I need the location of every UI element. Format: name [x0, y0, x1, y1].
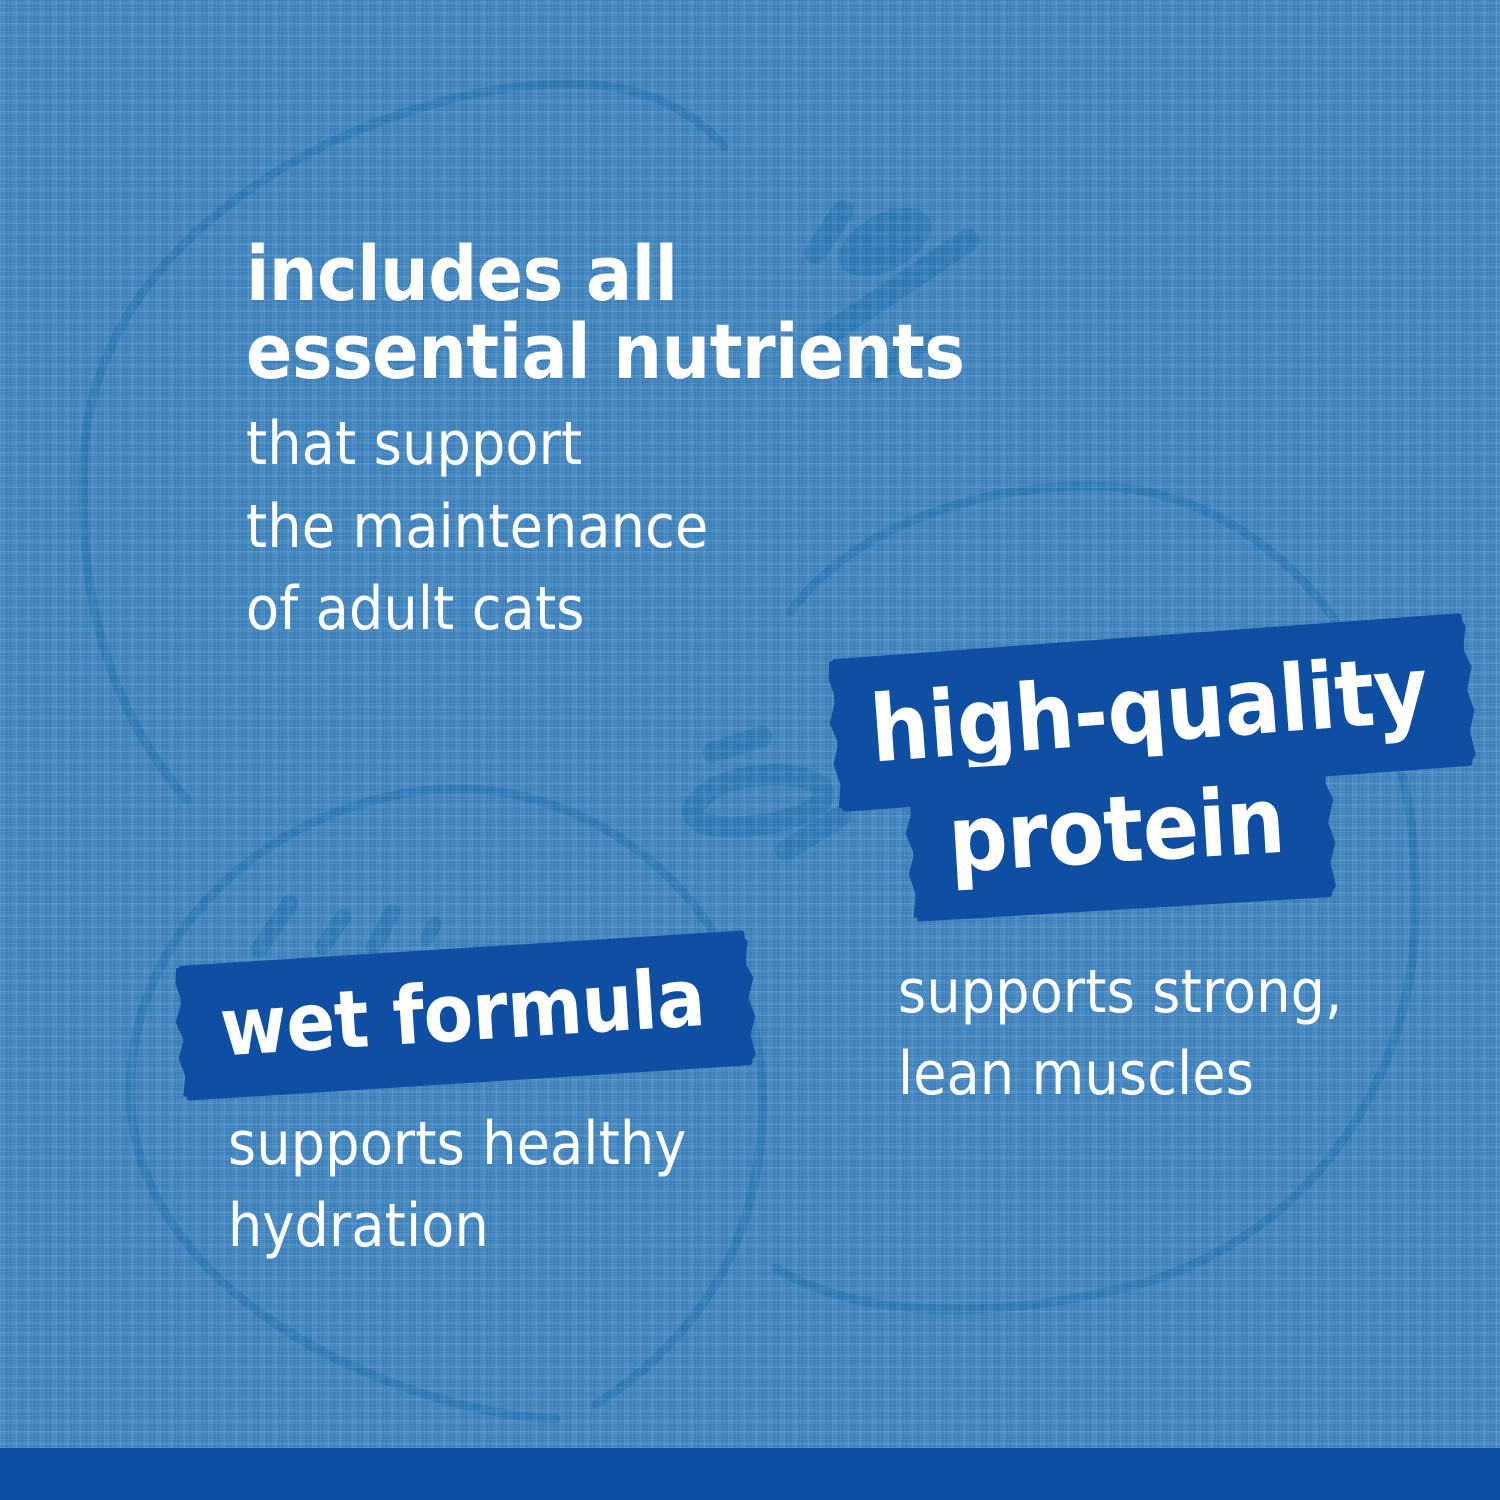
- wet-formula-badge-line1: wet formula: [178, 930, 752, 1100]
- protein-body-block: supports strong, lean muscles: [898, 958, 1343, 1109]
- infographic-canvas: includes all essential nutrients that su…: [0, 0, 1500, 1500]
- wet-formula-body-line2: hydration: [228, 1192, 687, 1260]
- center-sparks: [693, 723, 856, 865]
- wet-formula-body-block: supports healthy hydration: [228, 1110, 687, 1261]
- protein-body-line2: lean muscles: [898, 1040, 1343, 1108]
- wet-formula-badge: wet formula: [182, 948, 749, 1083]
- nutrients-headline-line1: includes all: [246, 238, 965, 310]
- protein-badge-line2: protein: [908, 746, 1333, 921]
- nutrients-headline-line2: essential nutrients: [246, 316, 965, 388]
- essential-nutrients-block: includes all essential nutrients that su…: [246, 238, 965, 644]
- bottom-accent-bar: [0, 1448, 1500, 1500]
- wet-formula-body-line1: supports healthy: [228, 1110, 687, 1178]
- nutrients-body-line2: the maintenance: [246, 493, 965, 561]
- nutrients-body-line3: of adult cats: [246, 575, 965, 643]
- protein-body-line1: supports strong,: [898, 958, 1343, 1026]
- nutrients-body-line1: that support: [246, 410, 965, 478]
- high-quality-protein-badge: high-quality protein: [836, 636, 1468, 940]
